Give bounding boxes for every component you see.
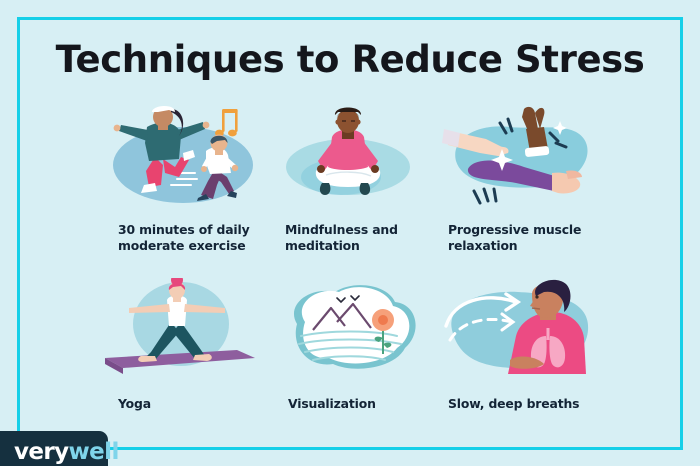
infographic-canvas: Techniques to Reduce Stress xyxy=(0,0,700,466)
technique-card-progressive-muscle-relaxation xyxy=(440,103,600,215)
page-title: Techniques to Reduce Stress xyxy=(0,38,700,81)
technique-card-slow-deep-breaths xyxy=(440,278,600,380)
verywell-logo[interactable]: verywell xyxy=(0,431,108,466)
logo-word-well: well xyxy=(69,439,119,465)
visualization-illustration xyxy=(275,278,425,380)
yoga-mat xyxy=(105,350,255,374)
caption-progressive-muscle-relaxation: Progressive muscle relaxation xyxy=(448,222,608,253)
mindfulness-illustration xyxy=(278,105,418,213)
technique-card-visualization xyxy=(275,278,425,380)
music-notes-icon xyxy=(215,109,238,136)
caption-visualization: Visualization xyxy=(288,396,428,412)
technique-card-mindfulness xyxy=(278,105,418,213)
logo-word-very: very xyxy=(14,439,69,465)
progressive-muscle-relaxation-illustration xyxy=(440,103,600,215)
slow-deep-breaths-illustration xyxy=(440,278,600,380)
technique-card-yoga xyxy=(105,278,255,378)
meditating-person-figure xyxy=(316,108,380,196)
caption-exercise: 30 minutes of daily moderate exercise xyxy=(118,222,268,253)
caption-mindfulness: Mindfulness and meditation xyxy=(285,222,435,253)
caption-slow-deep-breaths: Slow, deep breaths xyxy=(448,396,608,412)
exercise-illustration xyxy=(105,103,260,213)
yoga-illustration xyxy=(105,278,255,378)
technique-card-exercise xyxy=(105,103,260,213)
caption-yoga: Yoga xyxy=(118,396,258,412)
verywell-logo-text: verywell xyxy=(14,439,119,465)
